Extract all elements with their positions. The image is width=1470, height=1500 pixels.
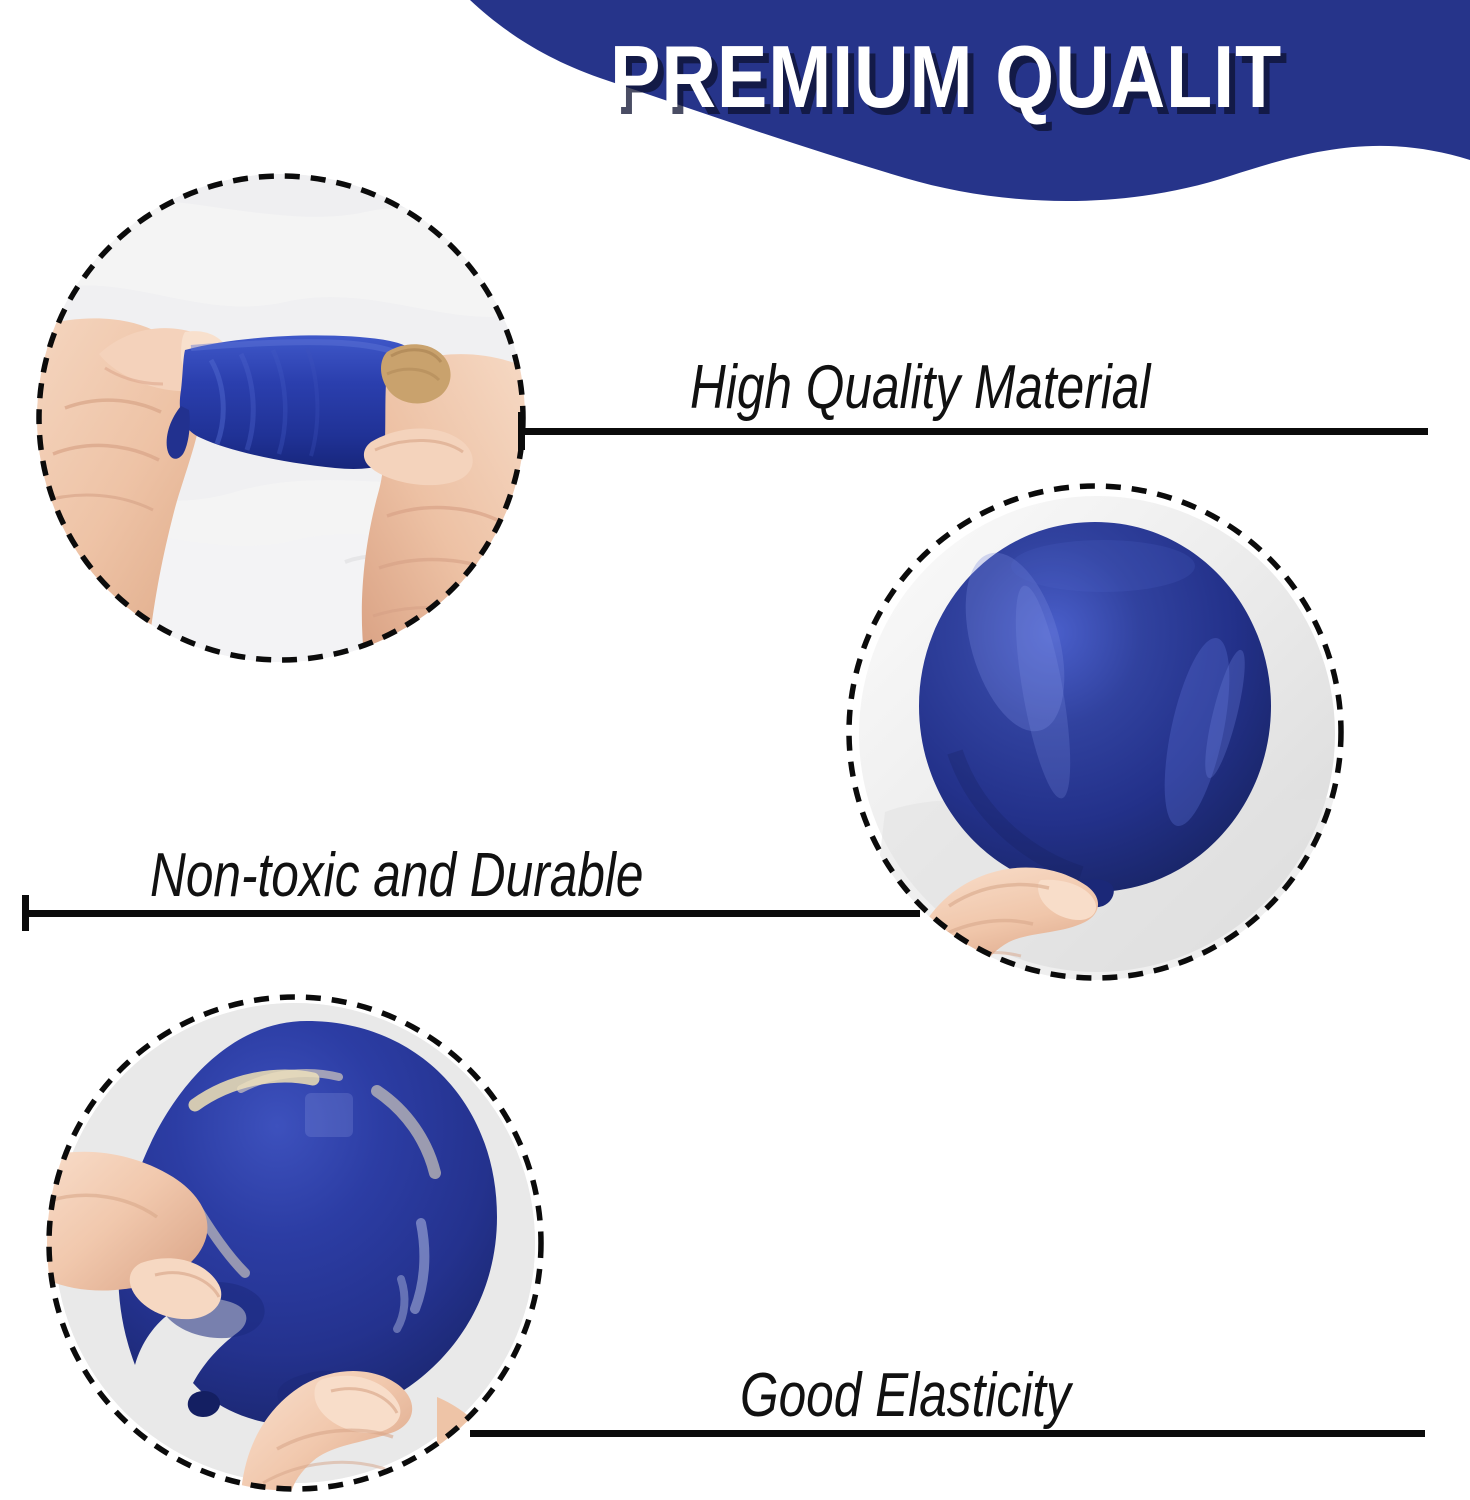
product-infographic: PREMIUM QUALIT [0,0,1470,1500]
callout-rule [470,1430,1425,1437]
callout-rule [22,910,920,917]
callout-high-quality-material: High Quality Material [0,0,1470,1500]
callout-rule [518,428,1428,435]
feature-label-non-toxic-and-durable: Non-toxic and Durable [150,840,644,911]
feature-label-high-quality-material: High Quality Material [690,352,1150,423]
feature-label-good-elasticity: Good Elasticity [740,1360,1071,1431]
